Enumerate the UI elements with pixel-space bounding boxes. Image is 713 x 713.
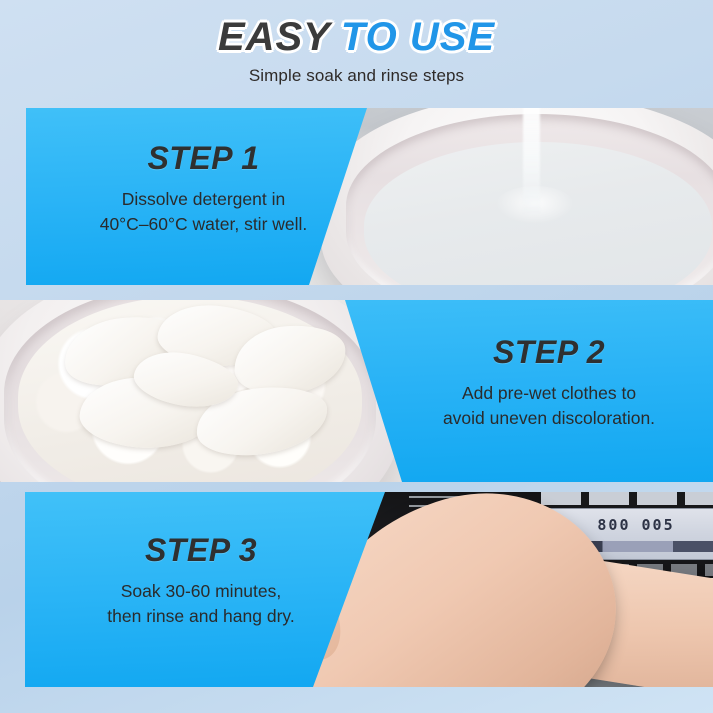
step-1-text-block: STEP 1 Dissolve detergent in 40°C–60°C w… [66,142,341,238]
header: EASYTO USE Simple soak and rinse steps [0,0,713,104]
step-3-description: Soak 30-60 minutes, then rinse and hang … [61,579,341,630]
step-3-label: STEP 3 [61,534,341,566]
step-1-label: STEP 1 [66,142,341,174]
step-panel-1: STEP 1 Dissolve detergent in 40°C–60°C w… [26,108,713,285]
water-stream [523,108,540,213]
step-panel-3: 800 005 STEP 3 Soak 30-60 minutes, then … [25,492,713,687]
page-subtitle: Simple soak and rinse steps [0,66,713,86]
title-part-easy: EASY [218,17,331,57]
step-panel-2: STEP 2 Add pre-wet clothes to avoid unev… [0,300,713,482]
control-top-buttons [541,492,713,505]
step-2-description: Add pre-wet clothes to avoid uneven disc… [404,381,694,432]
step-1-description: Dissolve detergent in 40°C–60°C water, s… [66,187,341,238]
soap-foam [18,300,362,482]
step-3-text-block: STEP 3 Soak 30-60 minutes, then rinse an… [61,534,341,630]
step-2-label: STEP 2 [404,336,694,368]
title-part-to-use: TO USE [341,17,495,57]
page-title: EASYTO USE [0,0,713,57]
step-2-text-block: STEP 2 Add pre-wet clothes to avoid unev… [404,336,694,432]
